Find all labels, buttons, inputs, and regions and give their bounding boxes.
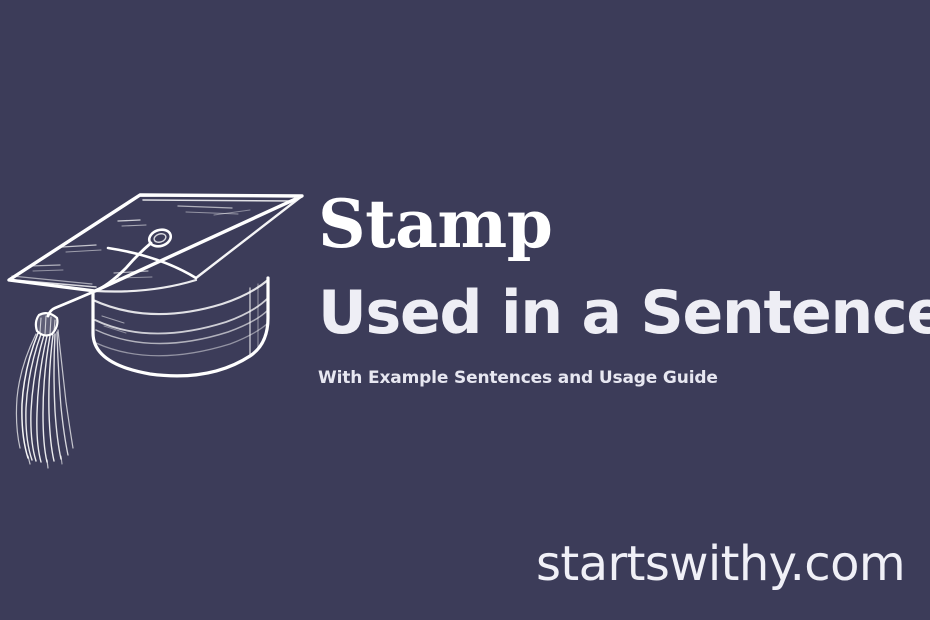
graduation-cap-icon bbox=[0, 168, 310, 458]
brand-domain: startswithy.com bbox=[536, 536, 905, 592]
promo-card: Stamp Used in a Sentence With Example Se… bbox=[0, 0, 930, 620]
headline-block: Stamp Used in a Sentence With Example Se… bbox=[318, 186, 918, 390]
subtitle: With Example Sentences and Usage Guide bbox=[318, 366, 918, 390]
word-title: Stamp bbox=[318, 186, 918, 262]
page-title: Used in a Sentence bbox=[318, 278, 918, 348]
